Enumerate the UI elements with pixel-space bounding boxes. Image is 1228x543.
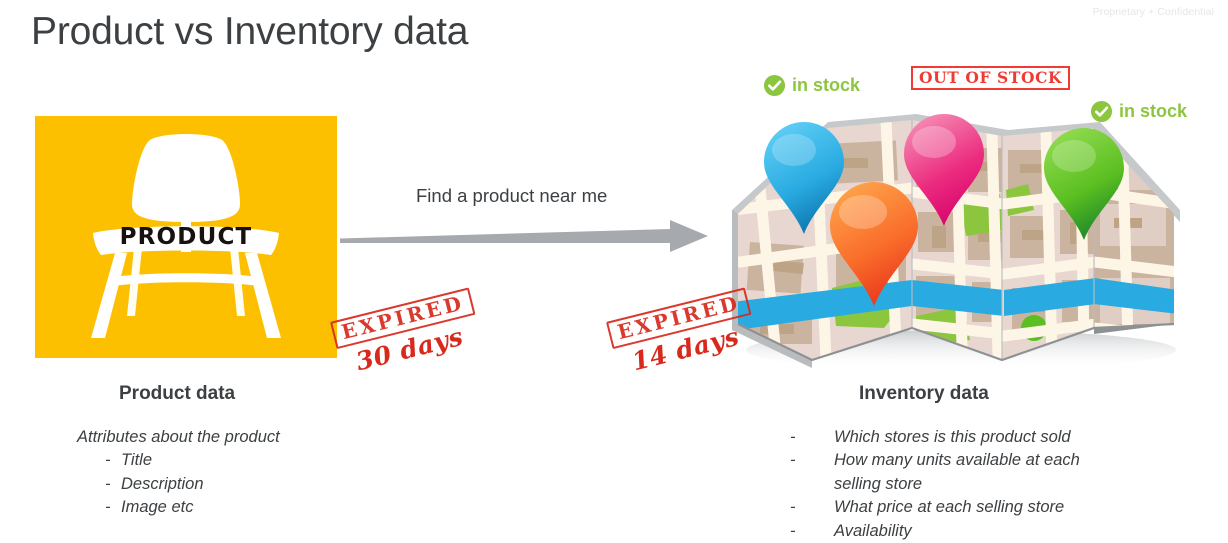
in-stock-badge-right: in stock <box>1090 100 1187 123</box>
bullet-marker: - <box>105 473 121 496</box>
product-image-tile: PRODUCT <box>35 116 337 358</box>
list-item: - Image etc <box>105 496 377 519</box>
list-item-label: Which stores is this product sold <box>834 426 1071 449</box>
product-bullet-list: - Title - Description - Image etc <box>105 449 377 519</box>
page-title: Product vs Inventory data <box>31 10 468 54</box>
product-overlay-label: PRODUCT <box>35 224 337 250</box>
arrow-label: Find a product near me <box>416 185 607 207</box>
list-item-label: How many units available at each selling… <box>834 449 1120 496</box>
list-item-label: Description <box>121 473 204 496</box>
check-circle-icon <box>1090 100 1113 123</box>
bullet-marker: - <box>790 496 834 519</box>
product-description-block: Attributes about the product - Title - D… <box>77 426 377 520</box>
list-item-label: Title <box>121 449 152 472</box>
list-item-label: Image etc <box>121 496 193 519</box>
check-circle-icon <box>763 74 786 97</box>
list-item: - Which stores is this product sold <box>790 426 1120 449</box>
inventory-data-caption: Inventory data <box>859 383 989 405</box>
inventory-description-block: - Which stores is this product sold - Ho… <box>790 426 1120 543</box>
expired-stamp-product: EXPIRED 30 days <box>330 287 484 380</box>
list-item: - How many units available at each selli… <box>790 449 1120 496</box>
list-item: - Description <box>105 473 377 496</box>
list-item: - Title <box>105 449 377 472</box>
confidentiality-notice: Proprietary + Confidential <box>1093 6 1214 18</box>
bullet-marker: - <box>790 449 834 472</box>
product-data-caption: Product data <box>119 383 235 405</box>
in-stock-label: in stock <box>792 75 860 96</box>
flow-arrow-icon <box>340 218 710 258</box>
product-intro-line: Attributes about the product <box>77 426 377 449</box>
map-illustration <box>716 92 1196 377</box>
out-of-stock-stamp: OUT OF STOCK <box>911 66 1070 90</box>
in-stock-label: in stock <box>1119 101 1187 122</box>
inventory-bullet-list: - Which stores is this product sold - Ho… <box>790 426 1120 543</box>
bullet-marker: - <box>105 496 121 519</box>
list-item-label: What price at each selling store <box>834 496 1064 519</box>
bullet-marker: - <box>105 449 121 472</box>
bullet-marker: - <box>790 426 834 449</box>
list-item: - What price at each selling store <box>790 496 1120 519</box>
in-stock-badge-left: in stock <box>763 74 860 97</box>
